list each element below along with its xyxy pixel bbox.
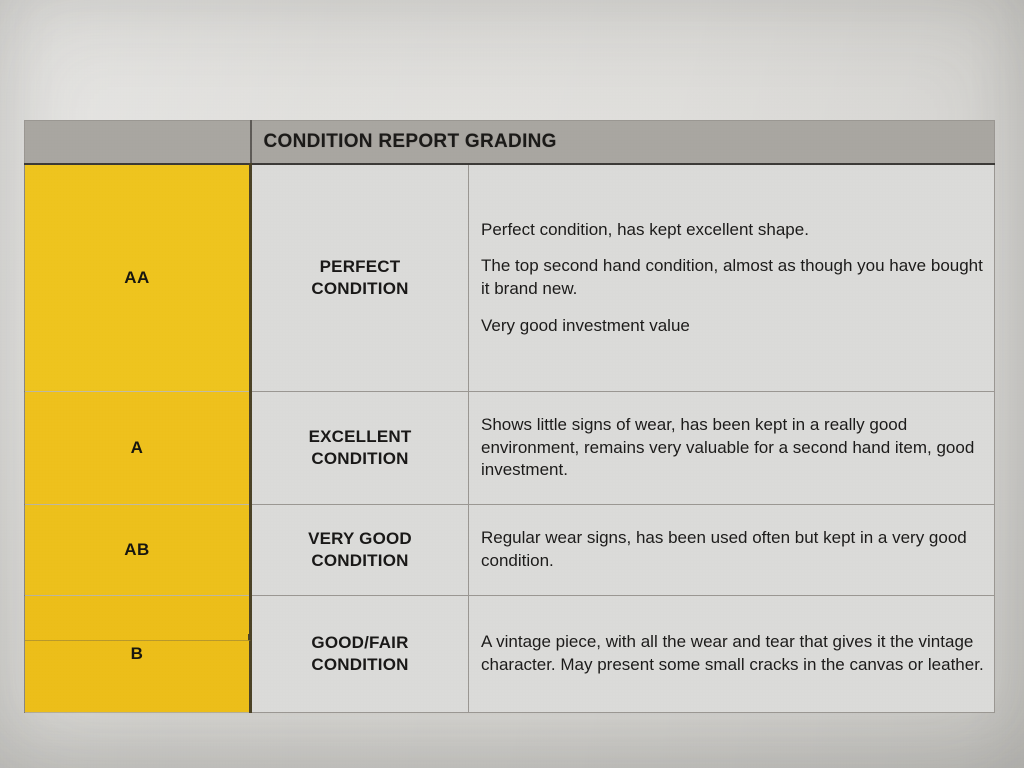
description-cell-ab: Regular wear signs, has been used often … (469, 505, 995, 596)
description-paragraph: Perfect condition, has kept excellent sh… (481, 219, 984, 242)
condition-label-line1: GOOD/FAIR (311, 633, 408, 652)
condition-cell-b: GOOD/FAIR CONDITION (251, 596, 469, 713)
description-cell-b: A vintage piece, with all the wear and t… (469, 596, 995, 713)
table-title-cell: CONDITION REPORT GRADING (251, 121, 995, 165)
grade-cell-aa: AA (25, 164, 251, 392)
condition-label-line1: EXCELLENT (309, 427, 412, 446)
table-row: AB VERY GOOD CONDITION Regular wear sign… (25, 505, 995, 596)
grade-label: B (131, 644, 144, 663)
grade-label: AB (124, 540, 150, 559)
description-text: Regular wear signs, has been used often … (481, 527, 984, 572)
table-header-row: CONDITION REPORT GRADING (25, 121, 995, 165)
condition-label-line1: VERY GOOD (308, 529, 412, 548)
description-paragraph: A vintage piece, with all the wear and t… (481, 631, 984, 676)
condition-label-line2: CONDITION (311, 279, 408, 298)
table-row: A EXCELLENT CONDITION Shows little signs… (25, 392, 995, 505)
description-text: Shows little signs of wear, has been kep… (481, 414, 984, 482)
condition-label: EXCELLENT CONDITION (260, 426, 460, 470)
description-paragraph: Regular wear signs, has been used often … (481, 527, 984, 572)
grade-cell-ab: AB (25, 505, 251, 596)
description-text: A vintage piece, with all the wear and t… (481, 631, 984, 676)
table-row: AA PERFECT CONDITION Perfect condition, … (25, 164, 995, 392)
description-paragraph: Shows little signs of wear, has been kep… (481, 414, 984, 482)
grade-column-overhang (25, 634, 251, 641)
condition-label: VERY GOOD CONDITION (260, 528, 460, 572)
description-text: Perfect condition, has kept excellent sh… (481, 219, 984, 337)
condition-label-line2: CONDITION (311, 449, 408, 468)
header-blank-cell (25, 121, 251, 165)
description-paragraph: Very good investment value (481, 315, 984, 338)
grade-label: A (131, 438, 144, 457)
description-cell-a: Shows little signs of wear, has been kep… (469, 392, 995, 505)
condition-cell-a: EXCELLENT CONDITION (251, 392, 469, 505)
description-cell-aa: Perfect condition, has kept excellent sh… (469, 164, 995, 392)
page-title: CONDITION REPORT GRADING (264, 131, 557, 152)
condition-report-grading-table: CONDITION REPORT GRADING AA PERFECT COND… (24, 120, 995, 713)
condition-cell-ab: VERY GOOD CONDITION (251, 505, 469, 596)
grade-label: AA (124, 268, 150, 287)
condition-label-line2: CONDITION (311, 551, 408, 570)
grade-cell-b: B (25, 596, 251, 713)
description-paragraph: The top second hand condition, almost as… (481, 255, 984, 300)
condition-label-line2: CONDITION (311, 655, 408, 674)
grade-cell-a: A (25, 392, 251, 505)
table-row: B GOOD/FAIR CONDITION A vintage piece, w… (25, 596, 995, 713)
condition-label-line1: PERFECT (320, 257, 401, 276)
condition-label: GOOD/FAIR CONDITION (260, 632, 460, 676)
condition-cell-aa: PERFECT CONDITION (251, 164, 469, 392)
condition-label: PERFECT CONDITION (260, 256, 460, 300)
